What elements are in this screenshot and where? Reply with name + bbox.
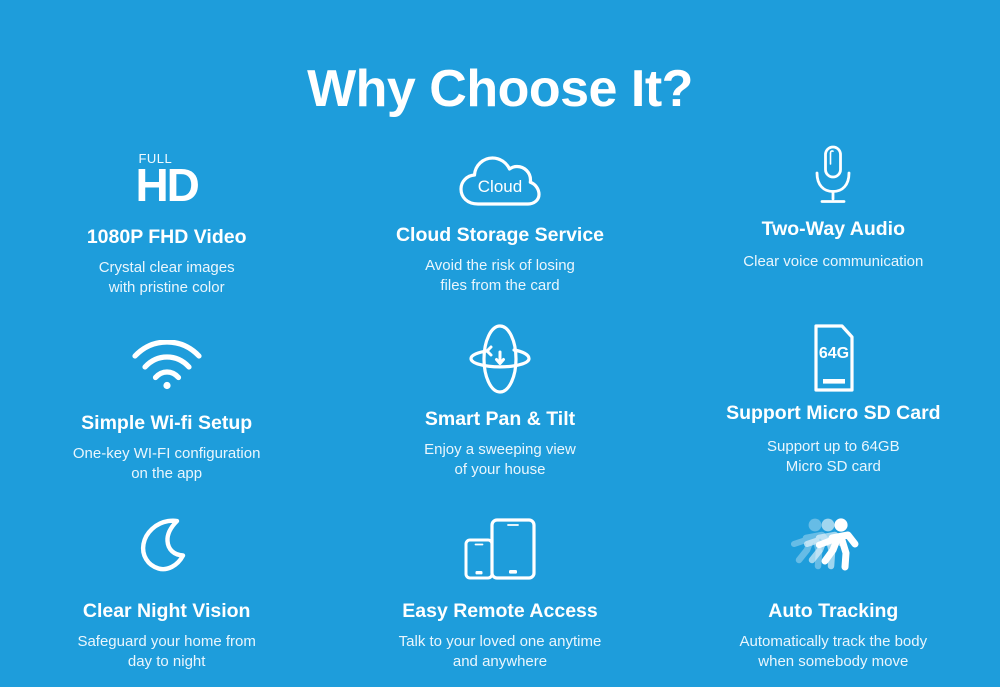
features-row: Clear Night Vision Safeguard your home f… [0,506,1000,686]
feature-card-smart-pan-tilt: Smart Pan & Tilt Enjoy a sweeping view o… [333,318,666,506]
sd-card-icon-label: 64G [819,345,849,362]
feature-title: Clear Night Vision [0,600,333,623]
pan-tilt-icon [333,318,666,396]
features-row: Simple Wi-fi Setup One-key WI-FI configu… [0,318,1000,506]
features-grid: FULL HD 1080P FHD Video Crystal clear im… [0,132,1000,686]
running-person-icon [667,506,1000,580]
feature-card-clear-night-vision: Clear Night Vision Safeguard your home f… [0,506,333,686]
feature-description: Talk to your loved one anytime and anywh… [333,632,666,672]
feature-card-easy-remote-access: Easy Remote Access Talk to your loved on… [333,506,666,686]
cloud-icon-label: Cloud [478,177,522,196]
feature-description: Enjoy a sweeping view of your house [333,440,666,480]
feature-description: Support up to 64GB Micro SD card [667,437,1000,477]
feature-card-simple-wifi-setup: Simple Wi-fi Setup One-key WI-FI configu… [0,318,333,506]
microphone-icon [667,132,1000,206]
full-hd-icon-main-label: HD [135,162,197,208]
feature-card-cloud-storage-service: Cloud Cloud Storage Service Avoid the ri… [333,132,666,318]
feature-title: Cloud Storage Service [333,224,666,247]
feature-card-two-way-audio: Two-Way Audio Clear voice communication [667,132,1000,318]
feature-description: Automatically track the body when somebo… [667,632,1000,672]
cloud-icon: Cloud [333,132,666,210]
page-title: Why Choose It? [0,61,1000,118]
feature-description: Clear voice communication [667,252,1000,272]
feature-title: 1080P FHD Video [0,226,333,249]
feature-description: Safeguard your home from day to night [0,632,333,672]
feature-description: One-key WI-FI configuration on the app [0,444,333,484]
features-row: FULL HD 1080P FHD Video Crystal clear im… [0,132,1000,318]
feature-title: Auto Tracking [667,600,1000,623]
full-hd-icon: FULL HD [0,132,333,208]
feature-title: Simple Wi-fi Setup [0,412,333,435]
feature-title: Two-Way Audio [667,218,1000,241]
moon-icon [0,506,333,580]
sd-card-icon: 64G [667,318,1000,394]
feature-card-1080p-fhd-video: FULL HD 1080P FHD Video Crystal clear im… [0,132,333,318]
feature-description: Avoid the risk of losing files from the … [333,256,666,296]
feature-title: Easy Remote Access [333,600,666,623]
wifi-icon [0,318,333,390]
feature-description: Crystal clear images with pristine color [0,258,333,298]
feature-title: Support Micro SD Card [667,402,1000,425]
feature-title: Smart Pan & Tilt [333,408,666,431]
feature-card-auto-tracking: Auto Tracking Automatically track the bo… [667,506,1000,686]
devices-icon [333,506,666,580]
feature-card-support-micro-sd-card: 64G Support Micro SD Card Support up to … [667,318,1000,506]
